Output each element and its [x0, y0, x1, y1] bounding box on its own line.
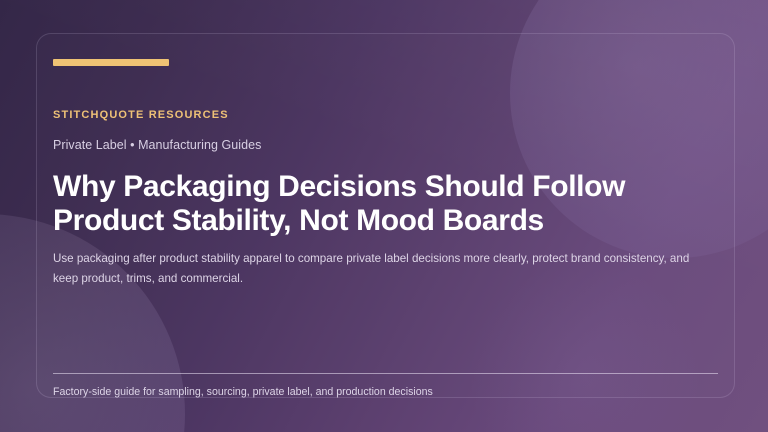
subtitle-description: Use packaging after product stability ap…: [53, 249, 699, 289]
accent-bar: [53, 59, 169, 66]
content-card-frame: STITCHQUOTE RESOURCES Private Label • Ma…: [36, 33, 735, 398]
category-kicker: Private Label • Manufacturing Guides: [53, 138, 261, 152]
brand-eyebrow: STITCHQUOTE RESOURCES: [53, 109, 229, 121]
hero-banner: STITCHQUOTE RESOURCES Private Label • Ma…: [0, 0, 768, 432]
footer-caption: Factory-side guide for sampling, sourcin…: [53, 385, 433, 400]
page-title: Why Packaging Decisions Should Follow Pr…: [53, 170, 713, 238]
footer-divider: [53, 373, 718, 374]
content-card-body: STITCHQUOTE RESOURCES Private Label • Ma…: [53, 34, 716, 397]
